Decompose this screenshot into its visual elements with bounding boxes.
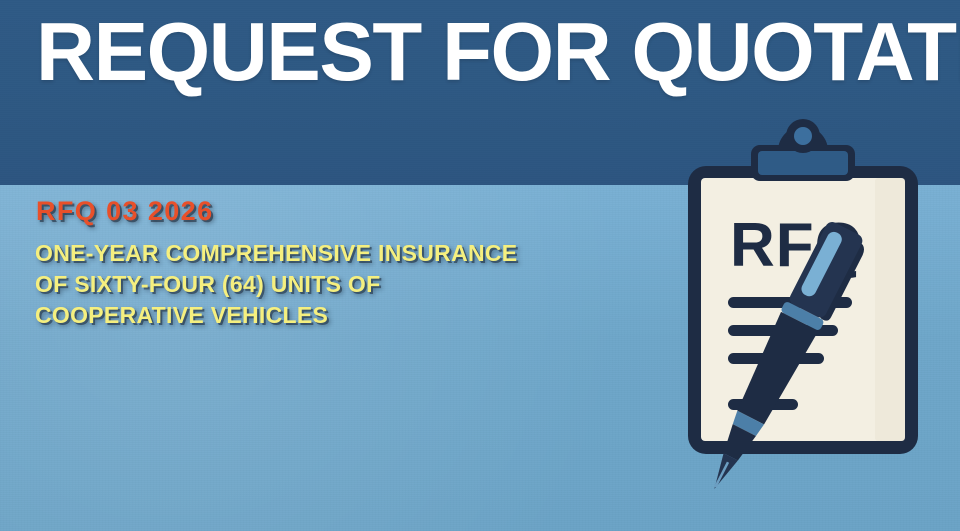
clipboard-clip-icon (751, 119, 855, 181)
clipboard-illustration: RFQ (670, 118, 940, 468)
rfq-subject-line-2: OF SIXTY-FOUR (64) UNITS OF (35, 269, 675, 300)
banner-title: REQUEST FOR QUOTATION (36, 10, 960, 93)
rfq-subject-line-3: COOPERATIVE VEHICLES (35, 300, 675, 331)
rfq-banner: REQUEST FOR QUOTATION RFQ 03 2026 ONE-YE… (0, 0, 960, 531)
rfq-number: RFQ 03 2026 (36, 196, 214, 227)
rfq-subject-block: ONE-YEAR COMPREHENSIVE INSURANCE OF SIXT… (35, 238, 675, 331)
rfq-subject-line-1: ONE-YEAR COMPREHENSIVE INSURANCE (35, 238, 675, 269)
